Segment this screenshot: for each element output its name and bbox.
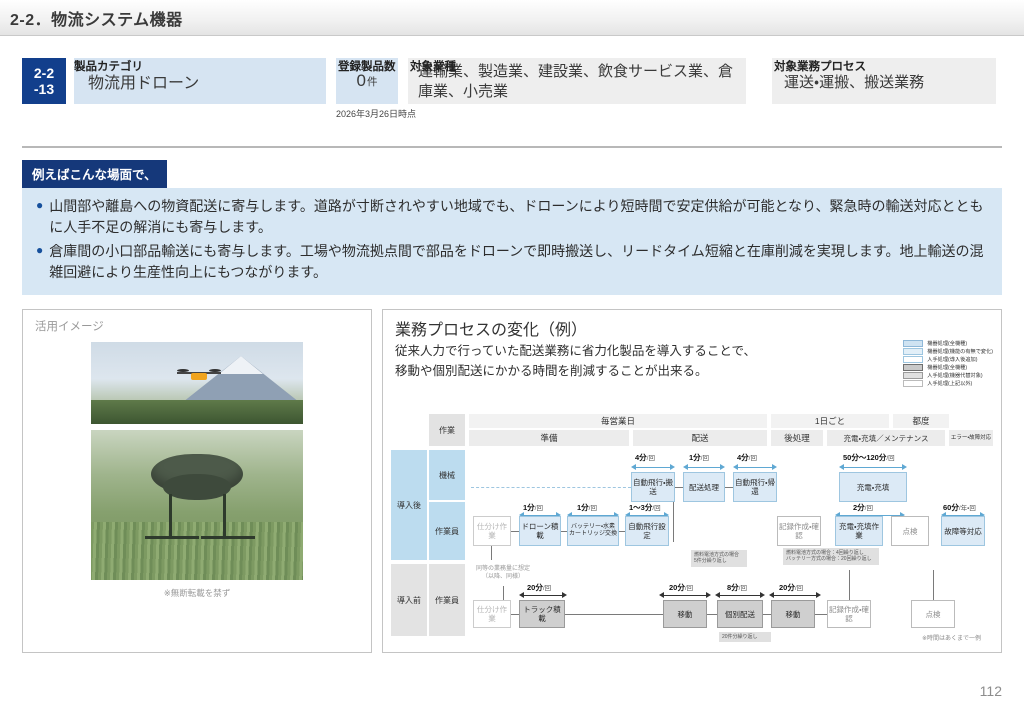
node-inspection-before: 点検 bbox=[911, 600, 955, 628]
legend-label: 人手処理(導入後追加) bbox=[927, 356, 977, 363]
connector bbox=[565, 614, 663, 615]
count-number: 0 bbox=[357, 71, 366, 91]
time-label-delivery-process: 1分/回 bbox=[689, 452, 709, 463]
time-label-charging: 50分～120分/回 bbox=[843, 452, 895, 463]
legend-swatch bbox=[903, 364, 923, 371]
row-header-worker-before: 作業員 bbox=[429, 564, 465, 636]
node-delivery-processing: 配送処理 bbox=[683, 472, 725, 502]
drone-skid bbox=[145, 536, 199, 539]
header-divider bbox=[22, 146, 1002, 148]
node-sorting-work-before: 仕分け作業 bbox=[473, 600, 511, 628]
product-meta-header: 製品カテゴリ 登録製品数 対象業種 対象業務プロセス 2-2 -13 物流用ドロ… bbox=[22, 58, 1002, 146]
node-battery-hydrogen-swap: バッテリー・水素カートリッジ交換 bbox=[567, 516, 619, 546]
connector bbox=[707, 614, 717, 615]
scenario-section: 例えばこんな場面で、 ● 山間部や離島への物資配送に寄与します。道路が寸断されや… bbox=[22, 160, 1002, 295]
node-auto-flight-return: 自動飛行・帰還 bbox=[733, 472, 777, 502]
legend-swatch bbox=[903, 380, 923, 387]
node-record-confirm-before: 記録作成・確認 bbox=[827, 600, 871, 628]
photo-drone-on-field bbox=[91, 430, 303, 580]
page-title-bar: 2-2．物流システム機器 bbox=[0, 0, 1024, 36]
process-panel-title: 業務プロセスの変化（例） bbox=[383, 310, 1001, 340]
node-failure-response: 故障等対応 bbox=[941, 516, 985, 546]
legend-swatch bbox=[903, 348, 923, 355]
phase-top-asneeded: 都度 bbox=[893, 414, 949, 428]
phase-charge-maintenance: 充電・充填／メンテナンス bbox=[827, 430, 945, 446]
row-header-machine: 機械 bbox=[429, 450, 465, 500]
annotation-fuel-cell-top: 燃料電池方式の場合 5件分繰り返し bbox=[691, 550, 747, 567]
legend-label: 機器処理(全機種) bbox=[927, 364, 967, 371]
connector bbox=[849, 570, 850, 600]
connector bbox=[673, 502, 674, 542]
ground-strip bbox=[91, 400, 303, 424]
legend-item: 機器処理(全機種) bbox=[903, 364, 993, 371]
connector bbox=[503, 586, 504, 600]
label-process: 対象業務プロセス bbox=[774, 58, 866, 74]
node-record-confirm-after: 記録作成・確認 bbox=[777, 516, 821, 546]
photo-column: ※無断転載を禁ず bbox=[23, 342, 371, 599]
row-header-task: 作業 bbox=[429, 414, 465, 446]
connector bbox=[933, 570, 934, 600]
row-group-after: 導入後 bbox=[391, 450, 427, 560]
node-inspection-after: 点検 bbox=[891, 516, 929, 546]
drone-leg bbox=[223, 494, 226, 538]
drone-leg bbox=[169, 494, 172, 538]
time-span-arrow bbox=[715, 592, 765, 599]
legend-label: 機器処理(機能の有無で変化) bbox=[927, 348, 993, 355]
node-move-outbound: 移動 bbox=[663, 600, 707, 628]
time-span-arrow bbox=[733, 464, 777, 471]
annotation-fuel-cell-right: 燃料電池方式の場合：4回繰り返し バッテリー方式の場合：20回繰り返し bbox=[783, 548, 879, 565]
node-move-return: 移動 bbox=[771, 600, 815, 628]
node-truck-loading: トラック積載 bbox=[519, 600, 565, 628]
diagram-footnote: ※時間はあくまで一例 bbox=[922, 633, 981, 642]
time-span-arrow bbox=[683, 464, 725, 471]
as-of-date: 2026年3月26日時点 bbox=[336, 107, 398, 120]
label-industry: 対象業種 bbox=[410, 58, 456, 74]
row-group-before: 導入前 bbox=[391, 564, 427, 636]
legend-item: 人手処理(導入後追加) bbox=[903, 356, 993, 363]
row-header-worker-after: 作業員 bbox=[429, 502, 465, 560]
label-count: 登録製品数 bbox=[338, 58, 396, 74]
connector-dashed bbox=[471, 487, 631, 488]
node-drone-loading: ドローン積載 bbox=[519, 516, 561, 546]
node-auto-flight-setup: 自動飛行設定 bbox=[625, 516, 669, 546]
target-industry-value: 運輸業、製造業、建設業、飲食サービス業、倉庫業、小売業 bbox=[408, 58, 746, 104]
scenario-body: ● 山間部や離島への物資配送に寄与します。道路が寸断されやすい地域でも、ドローン… bbox=[22, 188, 1002, 295]
time-label-auto-flight-return: 4分/回 bbox=[737, 452, 757, 463]
phase-error-response: エラー・故障対応 bbox=[949, 430, 993, 446]
label-category: 製品カテゴリ bbox=[74, 58, 143, 74]
phase-top-everyday: 毎営業日 bbox=[469, 414, 767, 428]
category-code-badge: 2-2 -13 bbox=[22, 58, 66, 104]
page-number: 112 bbox=[980, 683, 1002, 699]
legend-item: 機器処理(機能の有無で変化) bbox=[903, 348, 993, 355]
legend-label: 人手処理(上記以外) bbox=[927, 380, 972, 387]
legend-item: 機器処理(全機種) bbox=[903, 340, 993, 347]
phase-postprocess: 後処理 bbox=[771, 430, 823, 446]
drone-lower-hull bbox=[163, 474, 231, 500]
usage-image-title: 活用イメージ bbox=[23, 310, 371, 334]
scenario-bullet: ● 山間部や離島への物資配送に寄与します。道路が寸断されやすい地域でも、ドローン… bbox=[36, 196, 988, 239]
legend-swatch bbox=[903, 356, 923, 363]
page-title: 2-2．物流システム機器 bbox=[10, 6, 183, 30]
legend-label: 機器処理(全機種) bbox=[927, 340, 967, 347]
content-panels: 活用イメージ bbox=[22, 309, 1002, 653]
drone-skid bbox=[201, 536, 255, 539]
drone-body-closeup bbox=[117, 444, 277, 540]
process-change-panel: 業務プロセスの変化（例） 従来人力で行っていた配送業務に省力化製品を導入すること… bbox=[382, 309, 1002, 653]
phase-prepare: 準備 bbox=[469, 430, 629, 446]
time-label-auto-flight-out: 4分/回 bbox=[635, 452, 655, 463]
time-span-arrow bbox=[769, 592, 821, 599]
node-sorting-work-after: 仕分け作業 bbox=[473, 516, 511, 546]
node-auto-flight-transport: 自動飛行・搬送 bbox=[631, 472, 675, 502]
process-diagram: 作業 毎営業日 1日ごと 都度 準備 配送 後処理 充電・充填／メンテナンス エ… bbox=[391, 414, 993, 644]
connector bbox=[491, 546, 492, 560]
time-span-arrow bbox=[631, 464, 675, 471]
connector bbox=[725, 487, 733, 488]
drone-silhouette-icon bbox=[177, 368, 221, 384]
legend-swatch bbox=[903, 340, 923, 347]
badge-line-2: -13 bbox=[34, 81, 54, 97]
legend-swatch bbox=[903, 372, 923, 379]
bullet-dot-icon: ● bbox=[36, 196, 43, 239]
annotation-equal-volume: 同等の業務量に想定 （以降、同様） bbox=[471, 566, 535, 582]
connector bbox=[511, 531, 519, 532]
scenario-bullet: ● 倉庫間の小口部品輸送にも寄与します。工場や物流拠点間で部品をドローンで即時搬… bbox=[36, 241, 988, 284]
phase-delivery: 配送 bbox=[633, 430, 767, 446]
node-charge-refill: 充電・充填 bbox=[839, 472, 907, 502]
node-individual-delivery: 個別配送 bbox=[717, 600, 763, 628]
time-span-arrow bbox=[839, 464, 907, 471]
connector bbox=[815, 614, 827, 615]
drone-payload bbox=[191, 373, 207, 380]
badge-line-1: 2-2 bbox=[34, 65, 54, 81]
legend-item: 人手処理(機器代替対象) bbox=[903, 372, 993, 379]
bullet-dot-icon: ● bbox=[36, 241, 43, 284]
connector bbox=[619, 531, 625, 532]
connector bbox=[763, 614, 771, 615]
scenario-bullet-text: 山間部や離島への物資配送に寄与します。道路が寸断されやすい地域でも、ドローンによ… bbox=[49, 196, 988, 239]
diagram-legend: 機器処理(全機種) 機器処理(機能の有無で変化) 人手処理(導入後追加) 機器処… bbox=[903, 340, 993, 388]
connector bbox=[561, 531, 567, 532]
time-span-arrow bbox=[519, 592, 567, 599]
legend-label: 人手処理(機器代替対象) bbox=[927, 372, 982, 379]
usage-image-panel: 活用イメージ bbox=[22, 309, 372, 653]
annotation-before-repeat: 20件分繰り返し bbox=[719, 632, 771, 642]
photo-drone-over-mountain bbox=[91, 342, 303, 424]
count-unit: 件 bbox=[367, 74, 378, 89]
scenario-tag: 例えばこんな場面で、 bbox=[22, 160, 167, 188]
photo-copyright-note: ※無断転載を禁ず bbox=[164, 587, 231, 599]
mountain-snow-cap bbox=[219, 356, 263, 374]
node-charge-refill-work: 充電・充填作業 bbox=[835, 516, 883, 546]
time-span-arrow bbox=[659, 592, 711, 599]
scenario-bullet-text: 倉庫間の小口部品輸送にも寄与します。工場や物流拠点間で部品をドローンで即時搬送し… bbox=[49, 241, 988, 284]
connector bbox=[511, 614, 519, 615]
connector bbox=[675, 487, 683, 488]
phase-top-daily: 1日ごと bbox=[771, 414, 889, 428]
legend-item: 人手処理(上記以外) bbox=[903, 380, 993, 387]
